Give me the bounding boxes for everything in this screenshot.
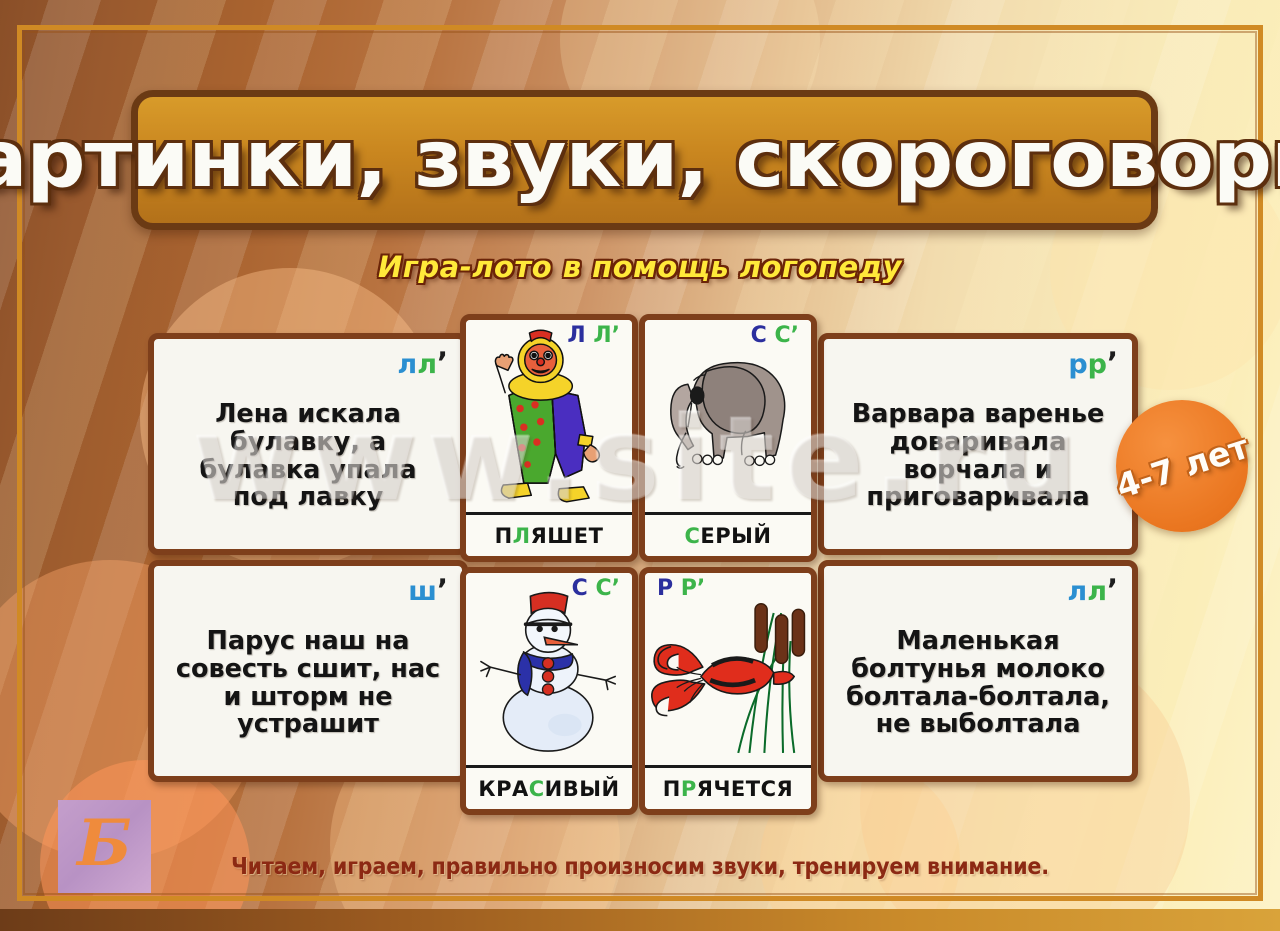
age-badge: 4-7 лет [1116,400,1248,532]
picture-caption: ПРЯЧЕТСЯ [645,765,811,809]
page-title: Картинки, звуки, скороговорки [0,121,1280,199]
elephant-icon: С С’ [645,320,811,512]
tongue-twister-text: Парус наш на совесть сшит, нас и шторм н… [168,607,448,764]
picture-caption: ПЛЯШЕТ [466,512,632,556]
snowman-icon: С С’ [466,573,632,765]
clown-icon: Л Л’ [466,320,632,512]
picture-card-elephant[interactable]: С С’ [639,314,817,562]
tongue-twister-card[interactable]: лл’ Маленькая болтунья молоко болтала-бо… [818,560,1138,782]
snowman-drawing [466,573,632,765]
sound-letters: ш’ [168,576,448,605]
subtitle: Игра-лото в помощь логопеду [0,250,1280,284]
picture-card-crayfish[interactable]: Р Р’ [639,567,817,815]
footer-tagline: Читаем, играем, правильно произносим зву… [64,854,1216,880]
picture-caption: СЕРЫЙ [645,512,811,556]
picture-card-snowman[interactable]: С С’ [460,567,638,815]
title-banner: Картинки, звуки, скороговорки [131,90,1158,230]
tongue-twister-text: Лена искала булавку, а булавка упала под… [168,380,448,537]
clown-drawing [466,320,632,512]
crayfish-icon: Р Р’ [645,573,811,765]
tongue-twister-text: Маленькая болтунья молоко болтала-болтал… [838,607,1118,764]
sound-letters: рр’ [838,349,1118,378]
age-badge-label: 4-7 лет [1111,426,1253,505]
picture-caption: КРАСИВЫЙ [466,765,632,809]
poster-root: Картинки, звуки, скороговорки Игра-лото … [0,0,1280,931]
tongue-twister-card[interactable]: лл’ Лена искала булавку, а булавка упала… [148,333,468,555]
picture-card-clown[interactable]: Л Л’ [460,314,638,562]
elephant-drawing [645,320,811,512]
tongue-twister-card[interactable]: рр’ Варвара варенье доваривала ворчала и… [818,333,1138,555]
crayfish-drawing [645,573,811,765]
sound-letters: лл’ [838,576,1118,605]
tongue-twister-text: Варвара варенье доваривала ворчала и при… [838,380,1118,537]
sound-letters: лл’ [168,349,448,378]
tongue-twister-card[interactable]: ш’ Парус наш на совесть сшит, нас и штор… [148,560,468,782]
bottom-color-bar [0,909,1280,931]
